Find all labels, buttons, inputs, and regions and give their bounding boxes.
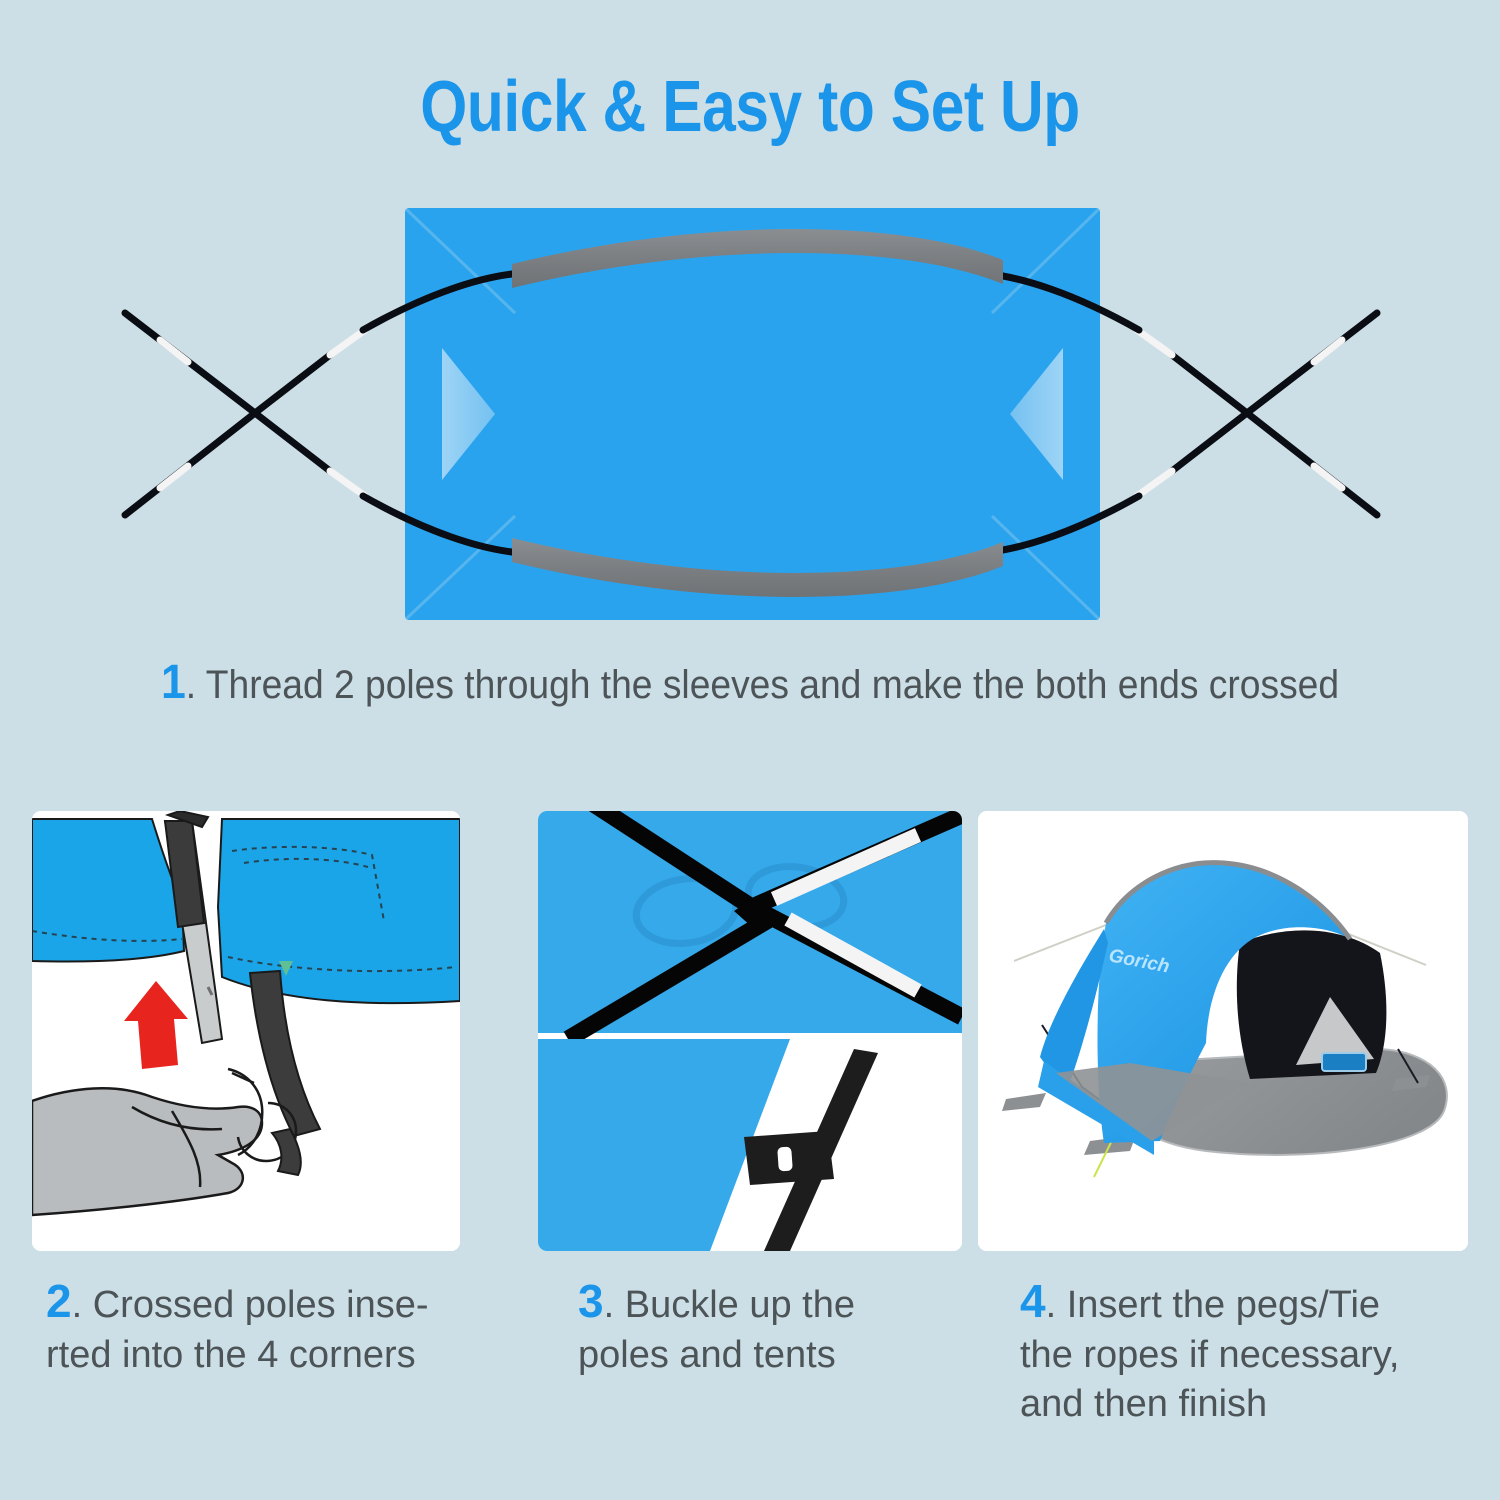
step-3-number: 3 — [578, 1275, 604, 1327]
left-crossed-pole-ends — [125, 313, 365, 515]
step-1-separator: . — [186, 663, 196, 707]
step-2-text-line-2: rted into the 4 corners — [46, 1331, 496, 1380]
step-2-caption: 2. Crossed poles inse- rted into the 4 c… — [46, 1272, 496, 1380]
tent-setup-diagram — [0, 180, 1500, 650]
step-4-number: 4 — [1020, 1275, 1046, 1327]
step-4-text-line-3: and then finish — [1020, 1380, 1490, 1429]
step-2-text-line-1: Crossed poles inse- — [93, 1284, 429, 1326]
step-4-text-line-1: Insert the pegs/Tie — [1067, 1284, 1380, 1326]
step-1-number: 1 — [161, 656, 186, 709]
step-1-text: Thread 2 poles through the sleeves and m… — [206, 663, 1339, 707]
panel-finished-tent: Gorich — [978, 811, 1468, 1251]
step-3-separator: . — [604, 1284, 615, 1326]
step-3-text-line-2: poles and tents — [578, 1331, 978, 1380]
page-title: Quick & Easy to Set Up — [120, 66, 1380, 148]
buckle-slot — [777, 1147, 793, 1172]
right-crossed-pole-ends — [1137, 313, 1377, 515]
panel-pole-insertion — [32, 811, 460, 1251]
panel-buckle-poles — [538, 811, 962, 1251]
step-4-text-line-2: the ropes if necessary, — [1020, 1331, 1490, 1380]
step-3-text-line-1: Buckle up the — [625, 1284, 855, 1326]
subimage-crossed-poles — [538, 811, 962, 1039]
window-pocket — [1322, 1053, 1366, 1071]
step-2-number: 2 — [46, 1275, 72, 1327]
step-4-separator: . — [1046, 1284, 1057, 1326]
step-4-caption: 4. Insert the pegs/Tie the ropes if nece… — [1020, 1272, 1490, 1428]
step-2-separator: . — [72, 1284, 83, 1326]
step-1-caption: 1. Thread 2 poles through the sleeves an… — [53, 655, 1448, 710]
subimage-buckle-strap — [538, 1039, 962, 1251]
step-3-caption: 3. Buckle up the poles and tents — [578, 1272, 978, 1380]
